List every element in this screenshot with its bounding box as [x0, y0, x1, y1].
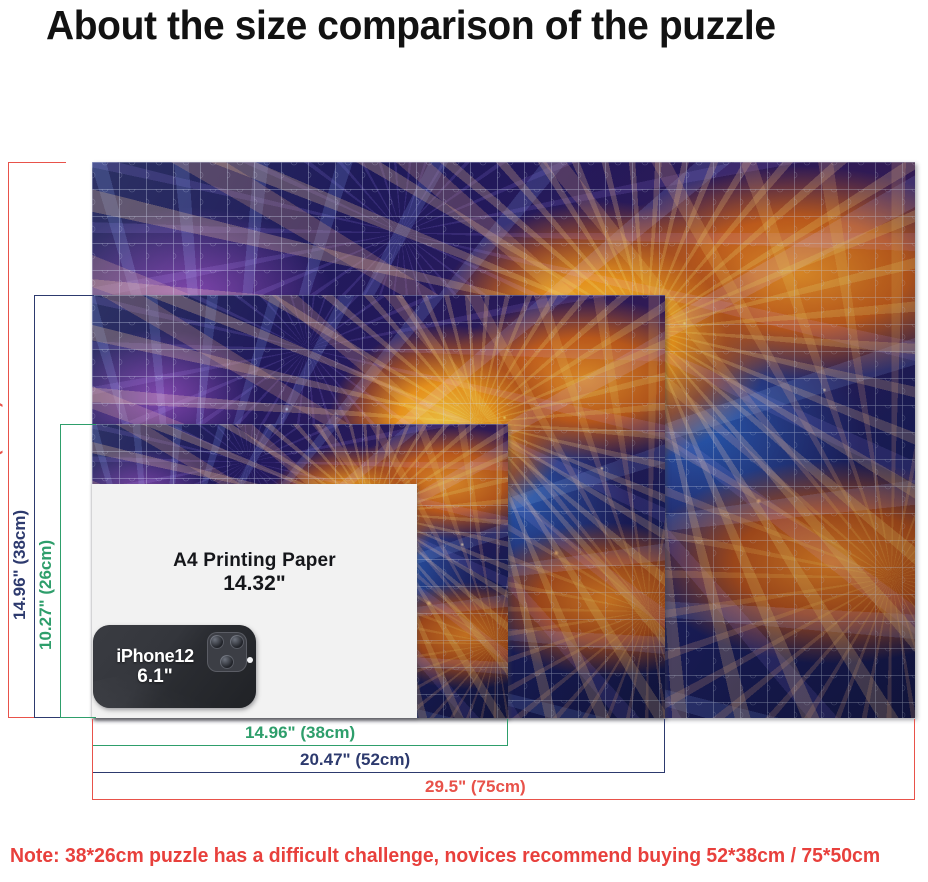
height-label-38x26: 10.27" (26cm)	[36, 540, 56, 650]
camera-flash-icon	[247, 657, 253, 663]
camera-lens-icon	[230, 635, 244, 649]
bracket-tick-right	[664, 719, 665, 772]
bracket-tick-left	[92, 719, 93, 799]
camera-lens-icon	[210, 635, 224, 649]
iphone-model-name: iPhone12	[99, 647, 211, 667]
bracket-tick-top	[8, 162, 66, 163]
iphone-reference: iPhone12 6.1"	[93, 625, 256, 708]
width-label-75x50: 29.5" (75cm)	[425, 777, 526, 797]
iphone-label: iPhone12 6.1"	[99, 647, 211, 688]
bracket-tick-right	[507, 719, 508, 745]
height-label-52x38: 14.96" (38cm)	[10, 510, 30, 620]
height-label-75x50: 19.7" (50cm)	[0, 401, 4, 502]
bracket-stem	[92, 772, 665, 773]
size-comparison-diagram: A4 Printing Paper 14.32" iPhone12 6.1" 1…	[0, 0, 928, 820]
iphone-screen-size: 6.1"	[99, 667, 211, 688]
recommendation-note: Note: 38*26cm puzzle has a difficult cha…	[10, 845, 900, 868]
camera-lens-icon	[220, 655, 234, 669]
bracket-stem	[92, 745, 508, 746]
a4-paper-label: A4 Printing Paper 14.32"	[92, 550, 417, 596]
bracket-tick-bottom	[60, 717, 96, 718]
bracket-tick-top	[60, 424, 96, 425]
bracket-tick-right	[914, 719, 915, 799]
bracket-stem	[92, 799, 915, 800]
bracket-stem	[8, 162, 9, 718]
bracket-tick-top	[34, 295, 94, 296]
a4-paper-name: A4 Printing Paper	[92, 550, 417, 572]
bracket-stem	[60, 424, 61, 718]
width-label-52x38: 20.47" (52cm)	[300, 750, 410, 770]
bracket-stem	[34, 295, 35, 718]
camera-module-icon	[207, 632, 247, 672]
width-label-38x26: 14.96" (38cm)	[245, 723, 355, 743]
a4-paper-size: 14.32"	[92, 572, 417, 596]
